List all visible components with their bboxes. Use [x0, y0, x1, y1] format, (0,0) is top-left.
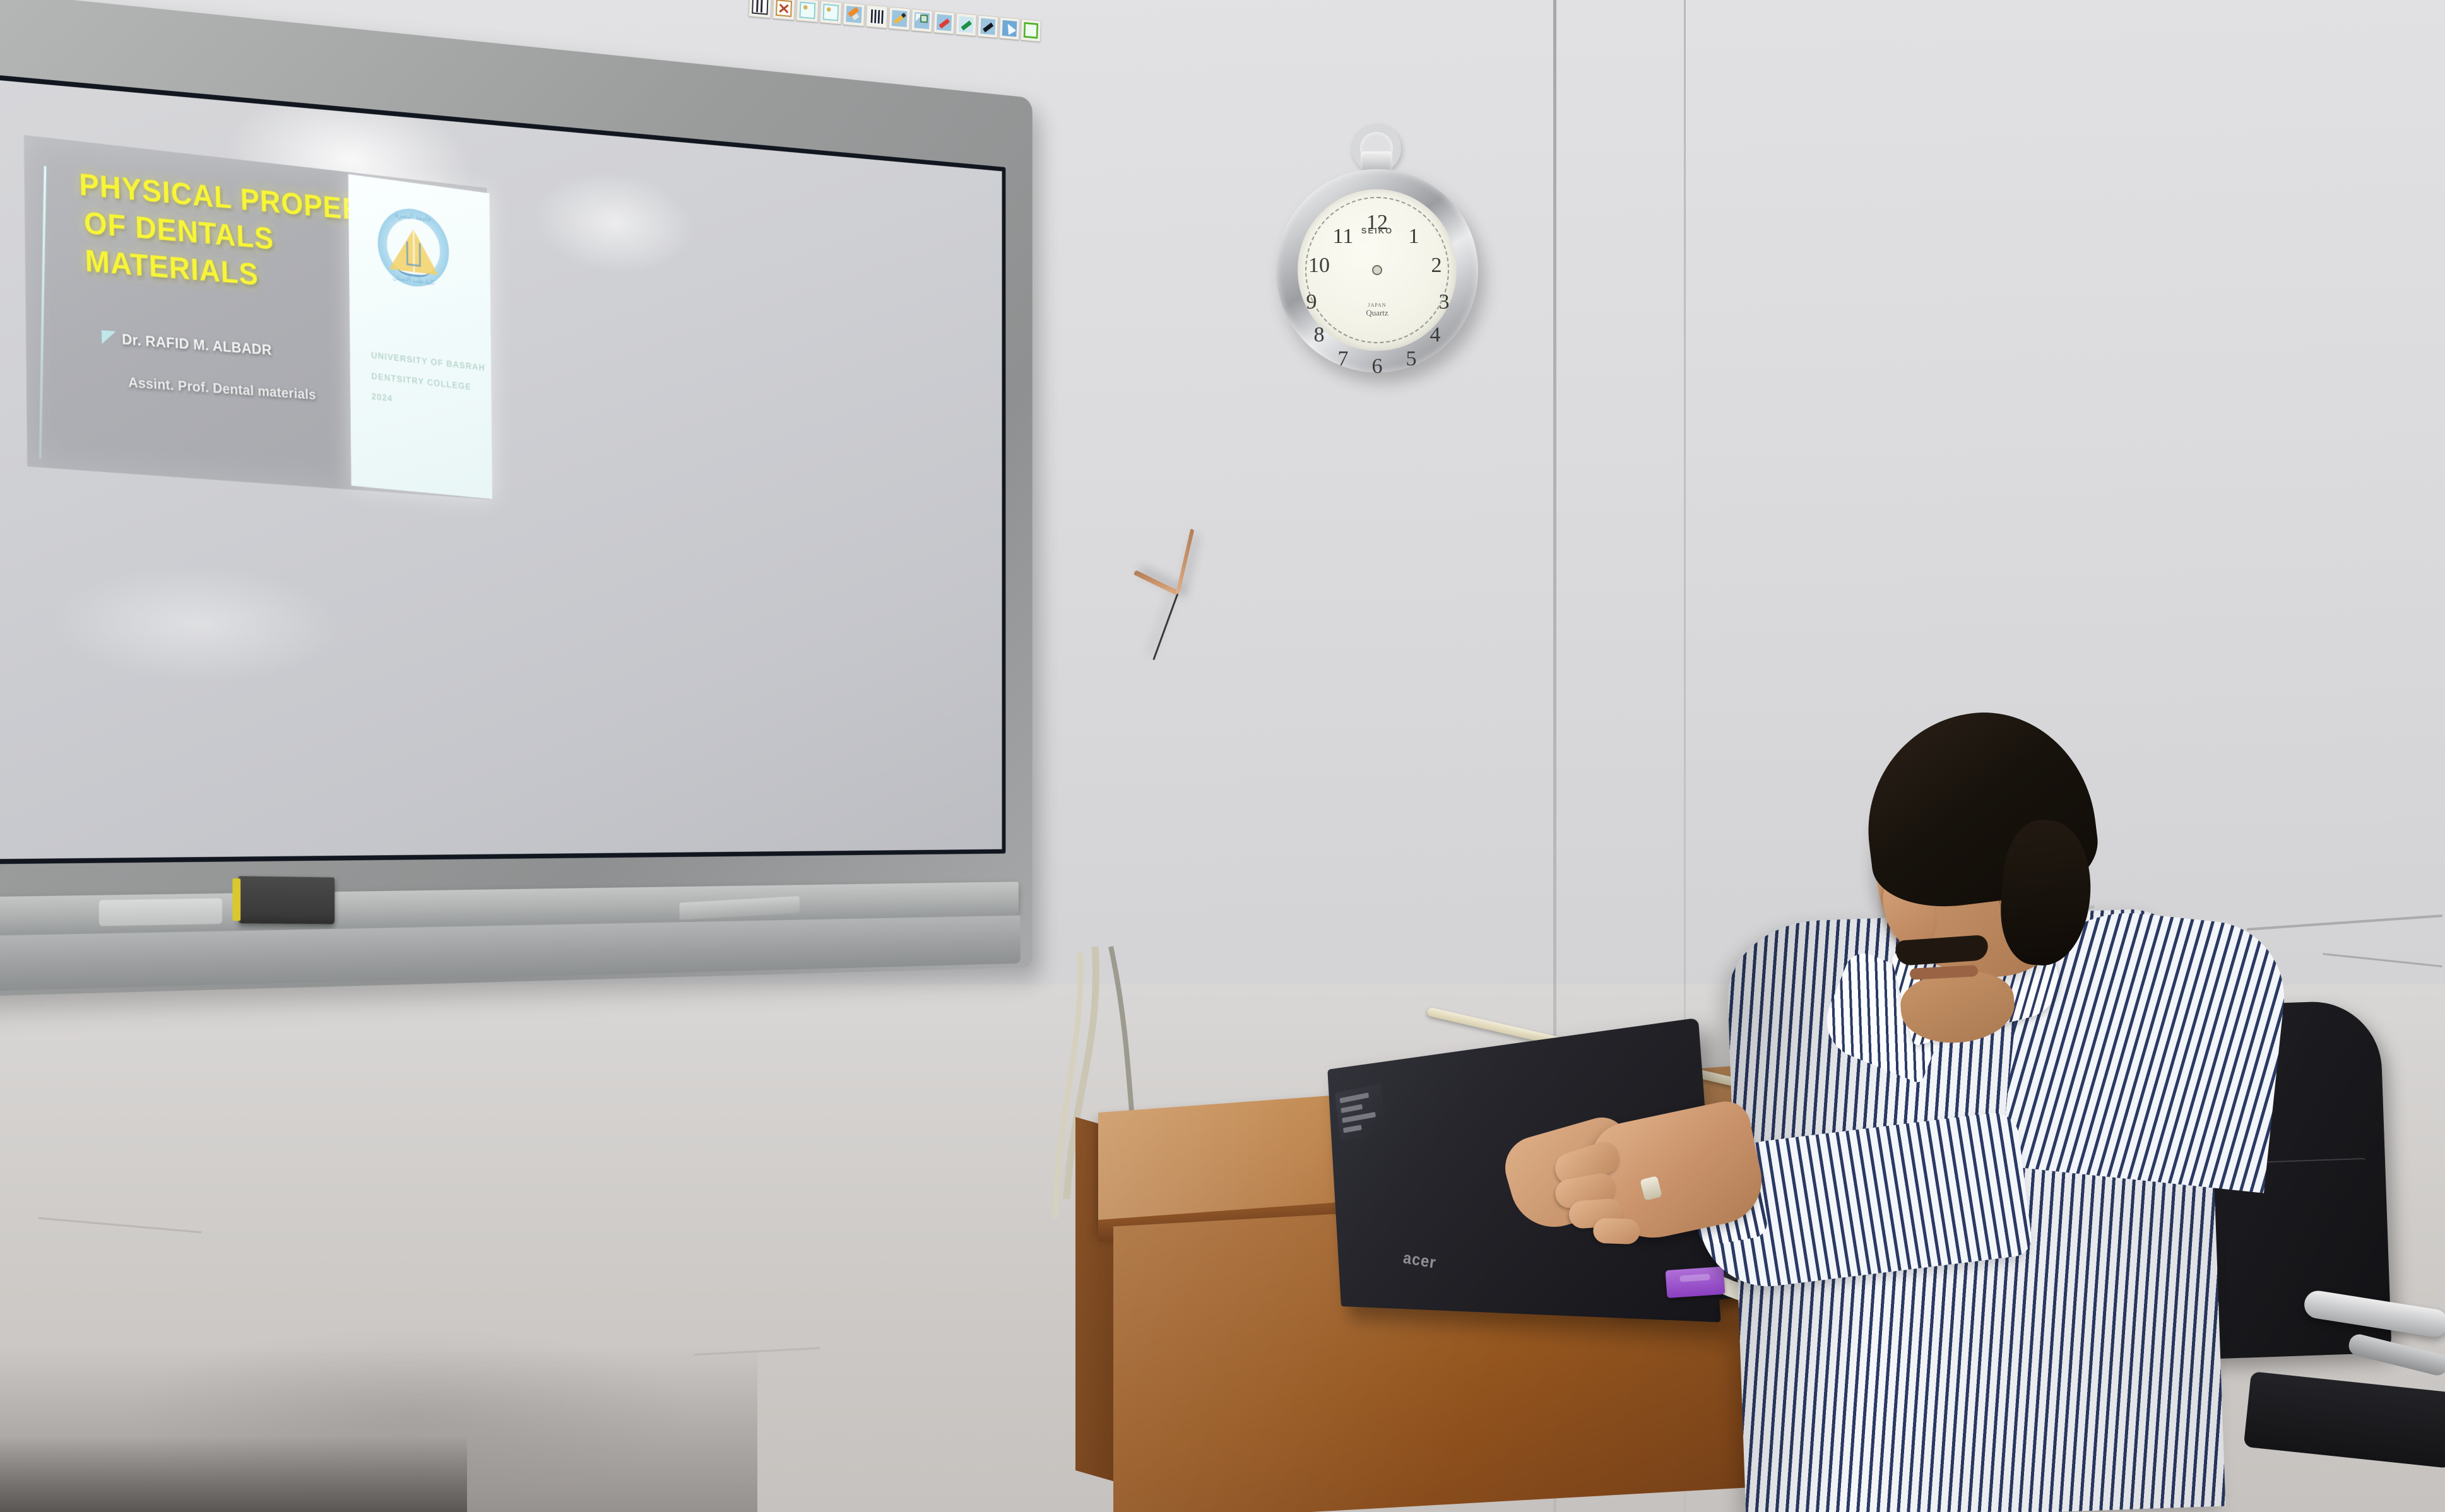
laptop-lid-sticker [1335, 1084, 1387, 1141]
sticker-bar [1341, 1104, 1363, 1113]
clock-case: SEIKO 12 1 2 3 4 5 6 7 8 9 10 11 JAPAN Q… [1276, 169, 1478, 372]
toolbar-button-eraser[interactable] [843, 3, 865, 27]
interactive-whiteboard[interactable]: PHYSICAL PROPERTIES OF DENTALS MATERIALS… [0, 0, 1231, 997]
lecture-room-photo: PHYSICAL PROPERTIES OF DENTALS MATERIALS… [0, 0, 2445, 1512]
glare [531, 163, 697, 280]
clock-movement: Quartz [1366, 308, 1388, 317]
clock-numeral-10: 10 [1306, 254, 1332, 278]
clock-numeral-11: 11 [1330, 225, 1356, 249]
black-pen-icon [980, 18, 995, 35]
toolbar-button-line-width[interactable] [866, 4, 888, 28]
toolbar-button-red-pen[interactable] [933, 11, 955, 34]
sticker-bar [1343, 1125, 1362, 1133]
lines-icon [869, 8, 885, 25]
toolbar-button-black-pen[interactable] [978, 15, 998, 38]
pages-icon [752, 0, 768, 15]
close-icon [776, 0, 792, 17]
tray-slot [99, 898, 222, 926]
slide-author-text: Dr. RAFID M. ALBADR [122, 331, 272, 358]
whiteboard-surface[interactable]: PHYSICAL PROPERTIES OF DENTALS MATERIALS… [0, 78, 1002, 859]
whiteboard-bezel: PHYSICAL PROPERTIES OF DENTALS MATERIALS… [0, 72, 1005, 864]
clock-numeral-2: 2 [1424, 254, 1449, 278]
toolbar-button-shapes[interactable] [911, 9, 933, 33]
clock-face: SEIKO 12 1 2 3 4 5 6 7 8 9 10 11 JAPAN Q… [1298, 189, 1457, 351]
projected-slide: PHYSICAL PROPERTIES OF DENTALS MATERIALS… [24, 135, 490, 500]
sticker-bar [1342, 1112, 1376, 1123]
clock-numeral-8: 8 [1306, 323, 1332, 347]
bottom-vignette [0, 1436, 467, 1512]
clock-numeral-6: 6 [1365, 355, 1390, 379]
toolbar-button-pencil[interactable] [889, 7, 910, 31]
pencil-icon [892, 10, 908, 27]
clock-numeral-12: 12 [1365, 211, 1390, 235]
lecturer [1717, 726, 2285, 1512]
university-logo-icon: جامعة البصرة كلية طب الاسنان [377, 204, 449, 291]
whiteboard-frame: PHYSICAL PROPERTIES OF DENTALS MATERIALS… [0, 0, 1033, 997]
wall-clock: SEIKO 12 1 2 3 4 5 6 7 8 9 10 11 JAPAN Q… [1270, 126, 1484, 423]
clock-numeral-4: 4 [1423, 323, 1448, 347]
green-pen-icon [959, 16, 974, 33]
toolbar-button-close[interactable] [773, 0, 795, 20]
logo-arabic-top: جامعة البصرة [377, 208, 449, 225]
clock-movement-text: JAPAN Quartz [1298, 302, 1457, 318]
clock-numeral-7: 7 [1330, 347, 1356, 371]
eraser-icon [846, 6, 861, 23]
triangle-bullet-icon [102, 330, 116, 345]
toolbar-button-green[interactable] [1021, 19, 1041, 42]
clock-numeral-1: 1 [1401, 225, 1426, 249]
red-pen-icon [937, 14, 952, 31]
chair-armrest-lower [2347, 1332, 2445, 1378]
clock-hub [1372, 265, 1382, 275]
glare [44, 558, 346, 687]
toolbar-button-green-pen[interactable] [956, 13, 976, 36]
cursor-icon [1002, 20, 1017, 37]
clock-movement-origin: JAPAN [1298, 302, 1457, 308]
projection-edge [39, 166, 47, 459]
sticker-bar [1340, 1092, 1369, 1103]
green-square-icon [1024, 22, 1038, 38]
toolbar-button-new-page-2[interactable] [820, 0, 842, 24]
shapes-icon [914, 12, 930, 29]
laptop-brand-logo: acer [1402, 1249, 1438, 1273]
blank-page-2-icon [823, 4, 839, 21]
blank-page-icon [799, 1, 815, 19]
whiteboard-toolbar[interactable] [749, 0, 1041, 42]
toolbar-button-select[interactable] [999, 17, 1020, 40]
clock-numeral-5: 5 [1399, 347, 1424, 371]
slide-affiliation: UNIVERSITY OF BASRAH DENTSITRY COLLEGE 2… [371, 345, 492, 420]
slide-side-panel: جامعة البصرة كلية طب الاسنان UNIVERSITY … [348, 174, 492, 499]
toolbar-button-new-page[interactable] [796, 0, 819, 23]
toolbar-button-pages[interactable] [749, 0, 771, 18]
finger [1593, 1218, 1640, 1245]
whiteboard-eraser[interactable] [239, 876, 335, 924]
